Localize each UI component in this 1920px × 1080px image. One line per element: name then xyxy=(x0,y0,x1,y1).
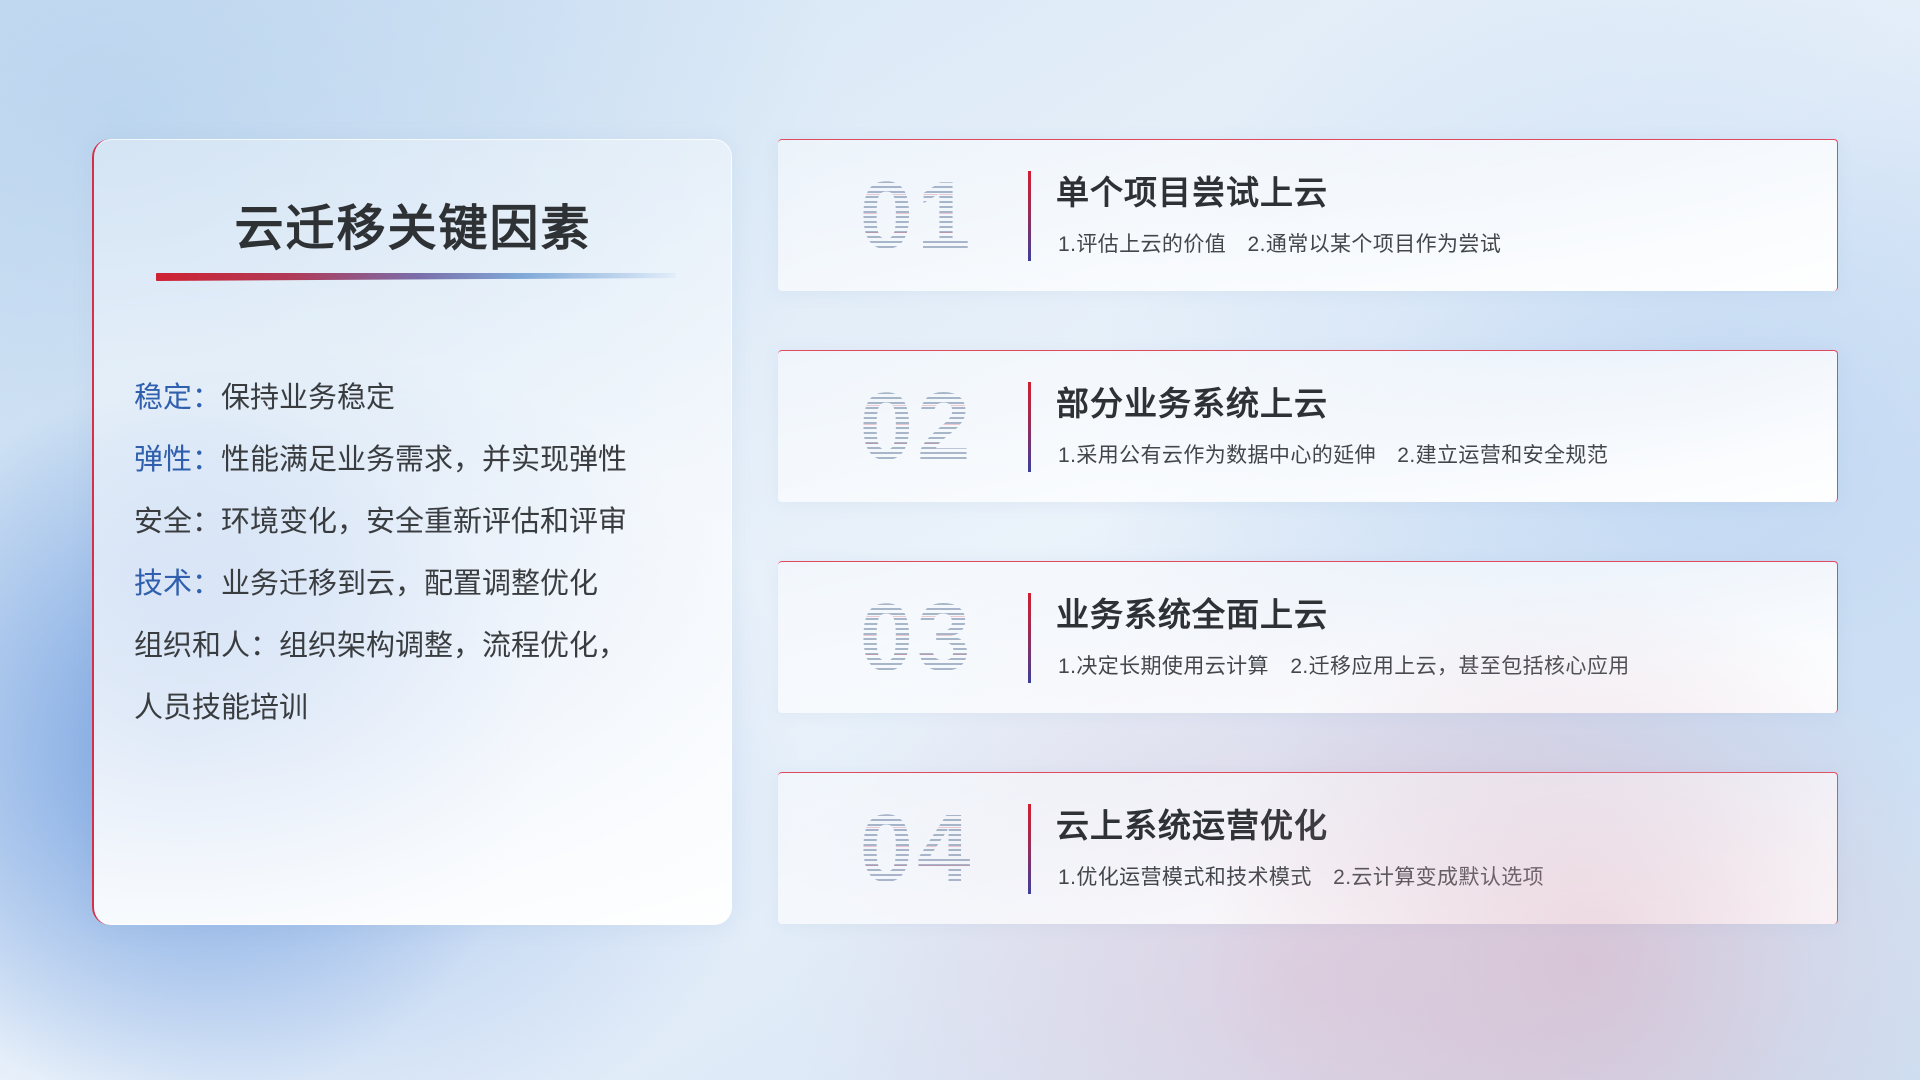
step-title: 业务系统全面上云 xyxy=(1056,588,1328,636)
step-number-watermark: 02 xyxy=(812,367,1022,487)
list-item: 弹性：性能满足业务需求，并实现弹性 xyxy=(134,429,702,491)
step-description: 1.评估上云的价值 2.通常以某个项目作为尝试 xyxy=(1058,228,1501,258)
factor-label: 安全： xyxy=(134,506,221,538)
factor-label: 弹性： xyxy=(134,444,221,476)
list-item: 安全：环境变化，安全重新评估和评审 xyxy=(134,491,702,553)
card-divider xyxy=(1028,593,1031,683)
card-divider xyxy=(1028,804,1031,894)
list-item: 组织和人：组织架构调整，流程优化， xyxy=(134,615,702,677)
factor-text: 组织架构调整，流程优化， xyxy=(279,630,627,662)
factor-label: 组织和人： xyxy=(134,630,279,662)
step-card-02[interactable]: 02 02 部分业务系统上云 1.采用公有云作为数据中心的延伸 2.建立运营和安… xyxy=(778,350,1838,502)
title-underline-accent xyxy=(156,273,676,281)
list-item: 人员技能培训 xyxy=(134,677,702,739)
slide-canvas: 云迁移关键因素 稳定：保持业务稳定 弹性：性能满足业务需求，并实现弹性 安全：环… xyxy=(0,0,1920,1080)
factor-text: 环境变化，安全重新评估和评审 xyxy=(221,506,627,538)
factor-text: 性能满足业务需求，并实现弹性 xyxy=(221,444,627,476)
factor-label: 稳定： xyxy=(134,382,221,414)
step-description: 1.优化运营模式和技术模式 2.云计算变成默认选项 xyxy=(1058,861,1544,891)
factor-label: 技术： xyxy=(134,568,221,600)
step-description: 1.采用公有云作为数据中心的延伸 2.建立运营和安全规范 xyxy=(1058,439,1608,469)
step-card-03[interactable]: 03 03 业务系统全面上云 1.决定长期使用云计算 2.迁移应用上云，甚至包括… xyxy=(778,561,1838,713)
factor-text: 业务迁移到云，配置调整优化 xyxy=(221,568,598,600)
step-number-watermark: 04 xyxy=(812,789,1022,909)
key-factors-list: 稳定：保持业务稳定 弹性：性能满足业务需求，并实现弹性 安全：环境变化，安全重新… xyxy=(134,367,702,739)
card-divider xyxy=(1028,382,1031,472)
list-item: 稳定：保持业务稳定 xyxy=(134,367,702,429)
step-title: 部分业务系统上云 xyxy=(1056,377,1328,425)
step-card-01[interactable]: 01 01 单个项目尝试上云 1.评估上云的价值 2.通常以某个项目作为尝试 xyxy=(778,139,1838,291)
factor-text: 保持业务稳定 xyxy=(221,382,395,414)
factor-text: 人员技能培训 xyxy=(134,692,308,724)
step-number-watermark: 01 xyxy=(812,156,1022,276)
card-divider xyxy=(1028,171,1031,261)
step-number-watermark: 03 xyxy=(812,578,1022,698)
list-item: 技术：业务迁移到云，配置调整优化 xyxy=(134,553,702,615)
step-card-04[interactable]: 04 04 云上系统运营优化 1.优化运营模式和技术模式 2.云计算变成默认选项 xyxy=(778,772,1838,924)
key-factors-panel: 云迁移关键因素 稳定：保持业务稳定 弹性：性能满足业务需求，并实现弹性 安全：环… xyxy=(92,139,732,925)
step-title: 单个项目尝试上云 xyxy=(1056,166,1328,214)
step-title: 云上系统运营优化 xyxy=(1056,799,1328,847)
step-description: 1.决定长期使用云计算 2.迁移应用上云，甚至包括核心应用 xyxy=(1058,650,1630,680)
page-title: 云迁移关键因素 xyxy=(94,189,732,260)
